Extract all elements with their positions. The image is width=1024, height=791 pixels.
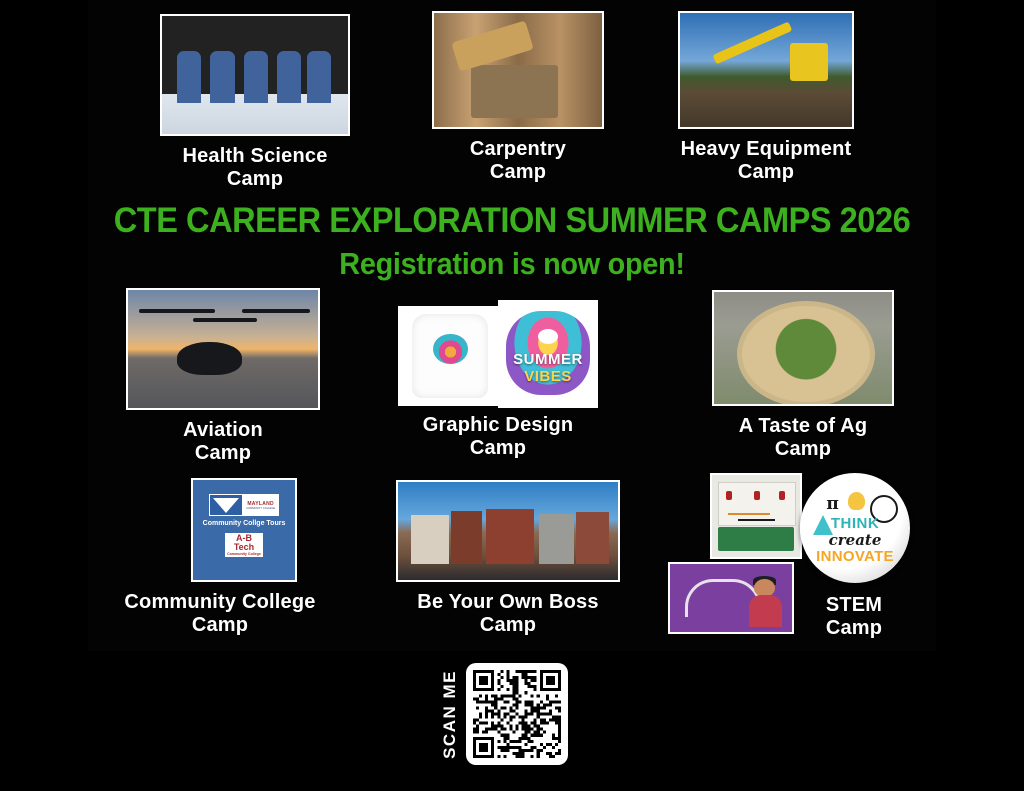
camp-label-stem: STEMCamp [790, 594, 918, 640]
health-science-image [162, 16, 348, 134]
summer-vibes-graphic-image: SUMMER VIBES [498, 300, 598, 408]
camp-image-frame [668, 562, 794, 634]
summer-vibes-line2: VIBES [498, 368, 598, 385]
be-your-own-boss-image [398, 482, 618, 580]
poster-canvas: Health ScienceCamp CarpentryCamp Heavy E… [0, 0, 1024, 791]
camp-card-health-science[interactable]: Health ScienceCamp [160, 14, 350, 191]
qr-code-block[interactable]: SCAN ME [440, 655, 590, 773]
taste-of-ag-image [714, 292, 892, 404]
camp-label-heavy-equipment: Heavy EquipmentCamp [678, 138, 854, 184]
lightbulb-icon [848, 492, 865, 511]
camp-image-frame [678, 11, 854, 129]
page-title: CTE CAREER EXPLORATION SUMMER CAMPS 2026 [36, 201, 988, 241]
tshirt-mockup-image [398, 306, 502, 406]
camp-card-stem[interactable]: π THINK create INNOVATE STEMCamp [664, 470, 918, 640]
camp-card-community-college[interactable]: MAYLANDCOMMUNITY COLLEGE Community Collg… [120, 478, 320, 637]
carpentry-image [434, 13, 602, 127]
camp-image-frame [126, 288, 320, 410]
graphic-design-art-group: SUMMER VIBES [398, 300, 598, 408]
camp-label-taste-of-ag: A Taste of AgCamp [712, 415, 894, 461]
mayland-logo-subtext: COMMUNITY COLLEGE [246, 507, 275, 510]
camp-card-heavy-equipment[interactable]: Heavy EquipmentCamp [678, 11, 854, 184]
camp-image-frame [712, 290, 894, 406]
camp-card-be-your-own-boss[interactable]: Be Your Own BossCamp [388, 480, 628, 637]
badge-line-think: THINK [800, 515, 910, 532]
camp-card-aviation[interactable]: AviationCamp [126, 288, 320, 465]
abtech-logo-text: A-B Tech [225, 534, 264, 552]
community-college-tours-label: Community Collge Tours [193, 520, 295, 527]
camp-image-frame [160, 14, 350, 136]
pi-icon: π [826, 494, 838, 514]
camp-card-graphic-design[interactable]: SUMMER VIBES Graphic DesignCamp [398, 300, 598, 460]
summer-vibes-line1: SUMMER [498, 351, 598, 368]
qr-code-icon [473, 670, 561, 758]
camp-card-taste-of-ag[interactable]: A Taste of AgCamp [712, 290, 894, 461]
page-subtitle: Registration is now open! [36, 246, 988, 282]
camp-image-frame [396, 480, 620, 582]
scan-me-label: SCAN ME [440, 670, 460, 759]
aviation-image [128, 290, 318, 408]
community-college-image: MAYLANDCOMMUNITY COLLEGE Community Collg… [193, 480, 295, 580]
abtech-logo-subtext: Community College [227, 552, 261, 556]
camp-image-frame [710, 473, 802, 559]
camp-image-frame [432, 11, 604, 129]
qr-code-card[interactable] [466, 663, 568, 765]
buzz-wire-game-image [670, 564, 792, 632]
camp-label-carpentry: CarpentryCamp [432, 138, 604, 184]
camp-card-carpentry[interactable]: CarpentryCamp [432, 11, 604, 184]
camp-label-community-college: Community CollegeCamp [120, 591, 320, 637]
camp-label-aviation: AviationCamp [126, 419, 320, 465]
camp-label-health-science: Health ScienceCamp [160, 145, 350, 191]
camp-image-frame: MAYLANDCOMMUNITY COLLEGE Community Collg… [191, 478, 297, 582]
badge-line-create: create [800, 531, 910, 549]
badge-line-innovate: INNOVATE [800, 548, 910, 565]
camp-label-be-your-own-boss: Be Your Own BossCamp [388, 591, 628, 637]
breadboard-image [712, 475, 800, 557]
heavy-equipment-image [680, 13, 852, 127]
think-create-innovate-badge: π THINK create INNOVATE [800, 473, 910, 583]
camp-label-graphic-design: Graphic DesignCamp [398, 414, 598, 460]
